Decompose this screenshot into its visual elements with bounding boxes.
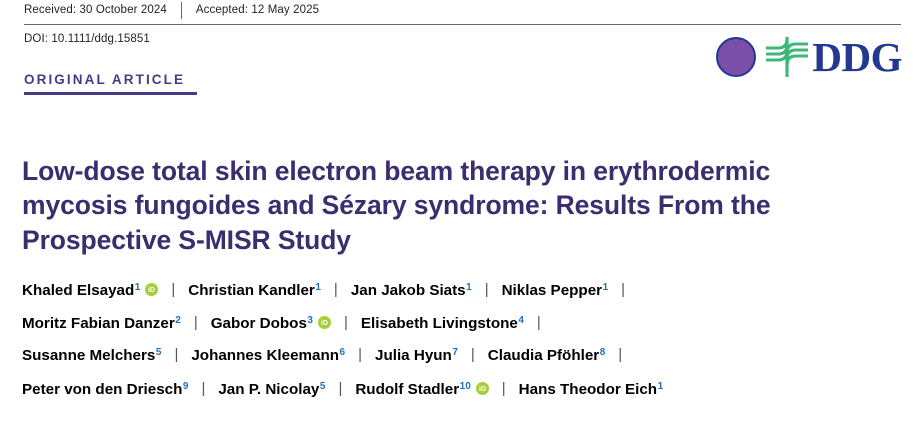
author-row: Peter von den Driesch9|Jan P. Nicolay5|R… [22, 381, 902, 414]
author-name: Christian Kandler [188, 283, 315, 298]
affiliation-superscript[interactable]: 5 [320, 382, 326, 392]
author-name: Jan Jakob Siats [351, 283, 466, 298]
author-entry: Khaled Elsayad1iD [22, 282, 158, 298]
article-header-page: Received: 30 October 2024 Accepted: 12 M… [0, 0, 924, 423]
author-entry: Rudolf Stadler10iD [355, 381, 488, 397]
title-line-2: mycosis fungoides and Sézary syndrome: R… [22, 190, 770, 220]
affiliation-superscript[interactable]: 4 [518, 316, 524, 326]
author-row: Khaled Elsayad1iD|Christian Kandler1|Jan… [22, 282, 902, 315]
author-entry: Hans Theodor Eich1 [519, 382, 663, 397]
article-type-underline [24, 92, 197, 95]
svg-text:iD: iD [479, 386, 486, 393]
doi-text: DOI: 10.1111/ddg.15851 [24, 33, 150, 45]
article-type-label: ORIGINAL ARTICLE [24, 72, 185, 87]
author-separator: | [194, 315, 198, 330]
received-date: Received: 30 October 2024 [24, 2, 181, 19]
affiliation-superscript[interactable]: 8 [600, 348, 606, 358]
logo-wordmark: DDG [812, 37, 902, 78]
author-name: Jan P. Nicolay [218, 382, 319, 397]
author-entry: Niklas Pepper1 [502, 283, 609, 298]
author-separator: | [171, 282, 175, 297]
orcid-icon[interactable]: iD [476, 382, 489, 395]
author-name: Johannes Kleemann [191, 348, 339, 363]
author-separator: | [485, 282, 489, 297]
affiliation-superscript[interactable]: 3 [307, 316, 313, 326]
author-entry: Jan Jakob Siats1 [351, 283, 472, 298]
author-separator: | [537, 315, 541, 330]
author-separator: | [344, 315, 348, 330]
svg-text:iD: iD [321, 320, 328, 327]
header-divider-rule [24, 24, 901, 25]
author-separator: | [471, 347, 475, 362]
orcid-icon-wrapper[interactable]: iD [318, 316, 331, 329]
publication-dates: Received: 30 October 2024 Accepted: 12 M… [24, 2, 333, 19]
logo-circle-icon [716, 37, 756, 77]
affiliation-superscript[interactable]: 1 [658, 382, 664, 392]
author-name: Niklas Pepper [502, 283, 602, 298]
ddg-logo: DDG [716, 36, 902, 78]
orcid-icon[interactable]: iD [145, 283, 158, 296]
author-entry: Peter von den Driesch9 [22, 382, 188, 397]
affiliation-superscript[interactable]: 10 [460, 382, 471, 392]
author-list: Khaled Elsayad1iD|Christian Kandler1|Jan… [22, 282, 902, 414]
author-name: Gabor Dobos [211, 316, 307, 331]
orcid-icon-wrapper[interactable]: iD [145, 283, 158, 296]
author-entry: Jan P. Nicolay5 [218, 382, 325, 397]
affiliation-superscript[interactable]: 1 [135, 283, 141, 293]
orcid-icon-wrapper[interactable]: iD [476, 382, 489, 395]
author-separator: | [621, 282, 625, 297]
affiliation-superscript[interactable]: 1 [603, 283, 609, 293]
author-name: Julia Hyun [375, 348, 452, 363]
author-entry: Susanne Melchers5 [22, 348, 161, 363]
author-separator: | [338, 381, 342, 396]
title-line-3: Prospective S-MISR Study [22, 225, 351, 255]
svg-text:iD: iD [148, 287, 155, 294]
affiliation-superscript[interactable]: 6 [340, 348, 346, 358]
affiliation-superscript[interactable]: 1 [466, 283, 472, 293]
author-separator: | [502, 381, 506, 396]
author-entry: Elisabeth Livingstone4 [361, 316, 524, 331]
author-separator: | [174, 347, 178, 362]
affiliation-superscript[interactable]: 9 [183, 382, 189, 392]
author-name: Moritz Fabian Danzer [22, 316, 175, 331]
author-name: Hans Theodor Eich [519, 382, 657, 397]
author-separator: | [334, 282, 338, 297]
author-entry: Julia Hyun7 [375, 348, 458, 363]
author-name: Claudia Pföhler [488, 348, 599, 363]
title-line-1: Low-dose total skin electron beam therap… [22, 156, 770, 186]
author-name: Susanne Melchers [22, 348, 155, 363]
affiliation-superscript[interactable]: 2 [175, 316, 181, 326]
author-name: Elisabeth Livingstone [361, 316, 518, 331]
author-row: Moritz Fabian Danzer2|Gabor Dobos3iD|Eli… [22, 315, 902, 348]
accepted-date: Accepted: 12 May 2025 [182, 2, 333, 19]
author-name: Rudolf Stadler [355, 382, 459, 397]
author-separator: | [618, 347, 622, 362]
author-entry: Gabor Dobos3iD [211, 315, 331, 331]
author-name: Peter von den Driesch [22, 382, 182, 397]
author-entry: Claudia Pföhler8 [488, 348, 605, 363]
affiliation-superscript[interactable]: 7 [452, 348, 458, 358]
author-row: Susanne Melchers5|Johannes Kleemann6|Jul… [22, 348, 902, 381]
author-separator: | [358, 347, 362, 362]
orcid-icon[interactable]: iD [318, 316, 331, 329]
page-title: Low-dose total skin electron beam therap… [22, 154, 892, 257]
author-separator: | [201, 381, 205, 396]
author-name: Khaled Elsayad [22, 283, 134, 298]
author-entry: Moritz Fabian Danzer2 [22, 316, 181, 331]
author-entry: Christian Kandler1 [188, 283, 321, 298]
affiliation-superscript[interactable]: 5 [156, 348, 162, 358]
author-entry: Johannes Kleemann6 [191, 348, 345, 363]
affiliation-superscript[interactable]: 1 [315, 283, 321, 293]
ddg-cross-mark-icon [765, 36, 809, 78]
